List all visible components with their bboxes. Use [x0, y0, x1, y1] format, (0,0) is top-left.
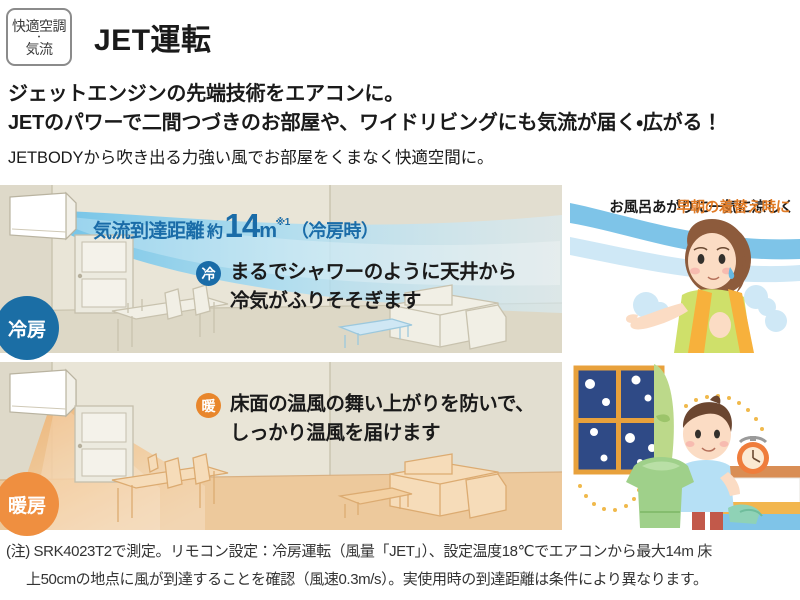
photo-morning-dressing [570, 362, 800, 530]
heating-callout: 暖 床面の温風の舞い上がりを防いで、 しっかり温風を届けます [196, 390, 534, 448]
airflow-distance-approx: 約 [207, 218, 223, 242]
lead-headline-1: ジェットエンジンの先端技術をエアコンに。 [8, 80, 800, 109]
air-conditioner-unit [10, 370, 76, 416]
category-badge: 快適空調 ・ 気流 [6, 8, 72, 66]
heating-callout-line1: 床面の温風の舞い上がりを防いで、 [230, 393, 534, 415]
cooling-callout-text: まるでシャワーのように天井から 冷気がふりそそぎます [230, 258, 517, 316]
airflow-distance-condition: （冷房時） [291, 217, 379, 243]
footnote-line2: 上50cmの地点に風が到達することを確認（風速0.3m/s）。実使用時の到達距離… [6, 566, 794, 594]
cooling-callout-line2: 冷気がふりそそぎます [230, 290, 421, 312]
photo-caption-morning: 早朝の着替え時に [676, 196, 790, 217]
lead-headline-2: JETのパワーで二間つづきのお部屋や、ワイドリビングにも気流が届く・広がる！ [8, 109, 800, 138]
airflow-distance-prefix: 気流到達距離 [93, 216, 204, 243]
heating-callout-line2: しっかり温風を届けます [230, 422, 440, 444]
morning-dressing-illustration [570, 362, 800, 530]
heating-chip-icon: 暖 [196, 393, 221, 418]
airflow-distance-unit: m [259, 220, 276, 243]
night-window [576, 368, 662, 472]
door [75, 406, 133, 482]
page-title: JET運転 [94, 15, 212, 59]
footnote: (注) SRK4023T2で測定。リモコン設定：冷房運転（風量「JET」）、設定… [0, 538, 800, 594]
category-badge-separator: ・ [34, 34, 43, 41]
airflow-distance-value: 14 [225, 207, 260, 245]
page-header: 快適空調 ・ 気流 JET運転 [0, 0, 800, 66]
footnote-line1: (注) SRK4023T2で測定。リモコン設定：冷房運転（風量「JET」）、設定… [6, 538, 794, 566]
lead-subtext: JETBODYから吹き出る力強い風でお部屋をくまなく快適空間に。 [8, 145, 800, 171]
cooling-callout-line1: まるでシャワーのように天井から [230, 261, 517, 283]
cooling-chip-icon: 冷 [196, 261, 221, 286]
lead-copy: ジェットエンジンの先端技術をエアコンに。 JETのパワーで二間つづきのお部屋や、… [0, 80, 800, 171]
category-badge-line2: 気流 [26, 41, 53, 57]
door [75, 235, 133, 313]
heating-callout-text: 床面の温風の舞い上がりを防いで、 しっかり温風を届けます [230, 390, 534, 448]
airflow-distance-label: 気流到達距離 約 14 m ※1 （冷房時） [93, 207, 378, 245]
airflow-distance-footnote-mark: ※1 [276, 217, 290, 228]
air-conditioner-unit [10, 193, 76, 239]
cooling-callout: 冷 まるでシャワーのように天井から 冷気がふりそそぎます [196, 258, 517, 316]
